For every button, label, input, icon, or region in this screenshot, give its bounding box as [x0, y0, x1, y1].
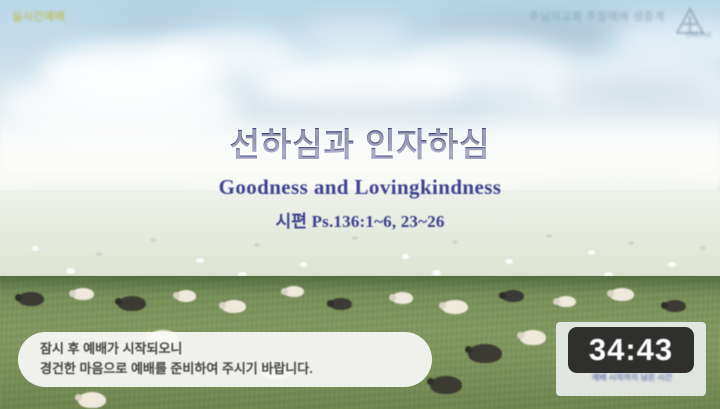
- sheep-head: [499, 292, 506, 299]
- announcement-bubble: 잠시 후 예배가 시작되오니 경건한 마음으로 예배를 준비하여 주시기 바랍니…: [18, 332, 432, 387]
- distant-sheep: [546, 234, 552, 238]
- sheep-head: [553, 298, 560, 305]
- countdown-timer: 34:43: [568, 327, 694, 373]
- sheep: [442, 300, 468, 314]
- distant-sheep: [96, 252, 102, 256]
- sheep-head: [517, 332, 524, 339]
- sheep-head: [15, 294, 22, 301]
- announcement-line-2: 경건한 마음으로 예배를 준비하여 주시기 바랍니다.: [40, 359, 410, 379]
- church-logo-caption: ONLINE: [686, 32, 712, 39]
- scripture-reference: 시편 Ps.136:1~6, 23~26: [0, 207, 720, 232]
- sheep: [222, 300, 246, 313]
- sheep: [284, 286, 304, 297]
- sheep-head: [115, 298, 122, 305]
- broadcast-watermark-right: 주님의교회 주일예배 생중계: [529, 8, 665, 24]
- sheep-head: [607, 290, 614, 297]
- sheep: [502, 290, 524, 302]
- sheep: [330, 298, 352, 310]
- sheep-head: [69, 290, 76, 297]
- page-title: 선하심과 인자하심: [0, 126, 720, 165]
- sheep: [610, 288, 634, 301]
- distant-sheep: [196, 258, 204, 263]
- distant-sheep: [66, 268, 75, 274]
- distant-sheep: [505, 259, 513, 264]
- sheep-head: [219, 302, 226, 309]
- distant-sheep: [150, 238, 156, 242]
- distant-sheep: [668, 262, 676, 267]
- sheep: [78, 392, 106, 408]
- distant-sheep: [32, 246, 39, 251]
- sheep: [176, 290, 196, 302]
- sheep-head: [173, 292, 180, 299]
- sheep: [556, 296, 576, 307]
- sheep-head: [439, 302, 446, 309]
- sheep: [392, 292, 413, 304]
- sheep-head: [389, 294, 396, 301]
- countdown-sub-label: 예배 시작까지 남은 시간: [566, 372, 698, 383]
- sheep: [72, 288, 94, 300]
- distant-sheep: [300, 262, 307, 267]
- sheep: [468, 344, 502, 363]
- sheep: [664, 300, 686, 312]
- sheep-head: [281, 288, 288, 295]
- cloud-shadow: [560, 75, 720, 113]
- distant-sheep: [700, 246, 706, 250]
- page-subtitle: Goodness and Lovingkindness: [0, 175, 720, 200]
- sheep: [520, 330, 546, 345]
- distant-sheep: [628, 241, 634, 245]
- sheep: [118, 296, 146, 311]
- announcement-line-1: 잠시 후 예배가 시작되오니: [40, 339, 410, 359]
- sheep-head: [327, 300, 334, 307]
- broadcast-watermark-left: 실시간예배: [12, 8, 65, 24]
- sheep-head: [465, 346, 472, 353]
- sheep-head: [661, 302, 668, 309]
- sheep: [18, 292, 44, 306]
- sheep-head: [427, 378, 434, 385]
- sheep-head: [75, 394, 82, 401]
- distant-sheep: [352, 236, 358, 240]
- distant-sheep: [402, 254, 409, 259]
- broadcast-slide: 실시간예배 주님의교회 주일예배 생중계 ONLINE 선하심과 인자하심 Go…: [0, 0, 720, 409]
- slide-title-block: 선하심과 인자하심 Goodness and Lovingkindness 시편…: [0, 126, 720, 232]
- distant-sheep: [254, 243, 260, 247]
- countdown-value: 34:43: [589, 332, 673, 368]
- cloud: [300, 20, 410, 54]
- sheep: [430, 376, 462, 394]
- distant-sheep: [588, 250, 595, 255]
- distant-sheep: [452, 240, 458, 244]
